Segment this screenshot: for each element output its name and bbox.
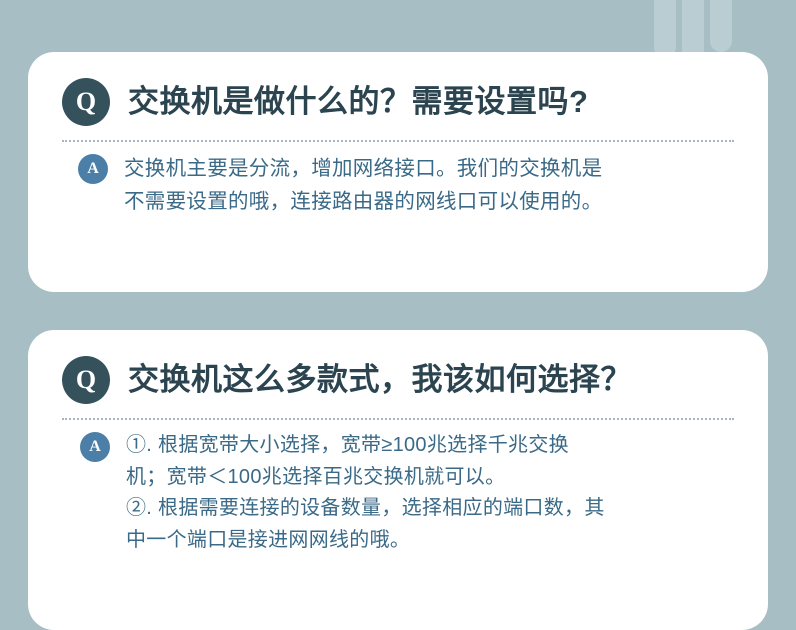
question-row: Q 交换机这么多款式，我该如何选择？ (62, 356, 734, 404)
faq-card-2: Q 交换机这么多款式，我该如何选择？ A ①. 根据宽带大小选择，宽带≥100兆… (28, 330, 768, 630)
answer-badge: A (80, 432, 110, 462)
answer-row: A 交换机主要是分流，增加网络接口。我们的交换机是 不需要设置的哦，连接路由器的… (62, 152, 734, 218)
answer-badge: A (78, 154, 108, 184)
quote-bar-1 (654, 0, 676, 58)
faq-card-1: Q 交换机是做什么的？需要设置吗? A 交换机主要是分流，增加网络接口。我们的交… (28, 52, 768, 292)
answer-row: A ①. 根据宽带大小选择，宽带≥100兆选择千兆交换 机；宽带＜100兆选择百… (62, 430, 734, 556)
answer-line: 中一个端口是接进网网线的哦。 (126, 525, 605, 557)
question-badge: Q (62, 356, 110, 404)
card-divider (62, 140, 734, 142)
answer-line: ②. 根据需要连接的设备数量，选择相应的端口数，其 (126, 493, 605, 525)
question-row: Q 交换机是做什么的？需要设置吗? (62, 78, 734, 126)
question-text: 交换机这么多款式，我该如何选择？ (128, 362, 632, 398)
answer-line: 机；宽带＜100兆选择百兆交换机就可以。 (126, 462, 605, 494)
answer-text: ①. 根据宽带大小选择，宽带≥100兆选择千兆交换 机；宽带＜100兆选择百兆交… (126, 430, 605, 556)
question-badge: Q (62, 78, 110, 126)
answer-text: 交换机主要是分流，增加网络接口。我们的交换机是 不需要设置的哦，连接路由器的网线… (124, 152, 602, 218)
question-text: 交换机是做什么的？需要设置吗? (128, 84, 588, 120)
answer-line: ①. 根据宽带大小选择，宽带≥100兆选择千兆交换 (126, 430, 605, 462)
quote-bar-3 (710, 0, 732, 52)
card-divider (62, 418, 734, 420)
answer-line: 不需要设置的哦，连接路由器的网线口可以使用的。 (124, 185, 602, 218)
answer-line: 交换机主要是分流，增加网络接口。我们的交换机是 (124, 152, 602, 185)
